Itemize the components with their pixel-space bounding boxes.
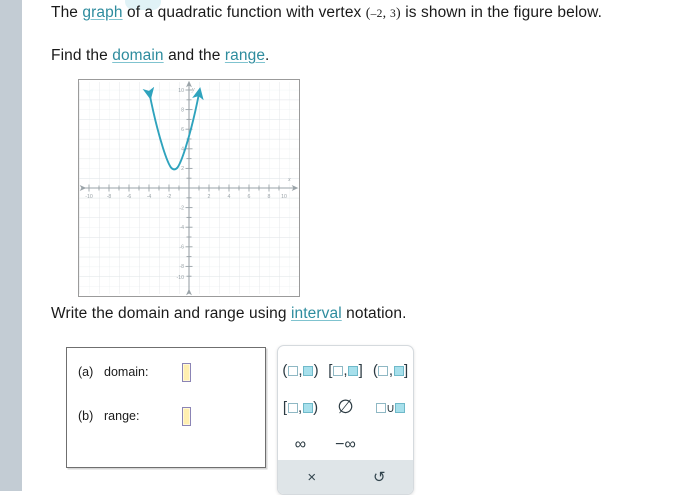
domain-input[interactable] (182, 363, 191, 382)
answer-label-domain: domain: (104, 365, 182, 379)
graph-figure: -10 -8 -6 -4 -2 2 4 6 8 10 10 8 6 4 2 -2… (78, 79, 300, 297)
palette-key-empty-set[interactable]: ∅ (323, 389, 368, 426)
y-axis-label: y (191, 87, 195, 93)
link-graph[interactable]: graph (82, 4, 122, 21)
palette-clear-button[interactable]: × (278, 460, 346, 494)
answer-label-range: range: (104, 409, 182, 423)
placeholder-box-icon (376, 403, 386, 413)
answer-row-domain: (a) domain: (78, 361, 258, 383)
answer-card: (a) domain: (b) range: (66, 347, 266, 468)
answer-tag-a: (a) (78, 365, 104, 379)
link-range[interactable]: range (225, 47, 265, 64)
svg-text:-8: -8 (107, 194, 112, 200)
placeholder-box-filled-icon (394, 366, 404, 376)
palette-key-spacer (368, 426, 413, 463)
placeholder-box-icon (378, 366, 388, 376)
problem-statement-line-3: Write the domain and range using interva… (51, 303, 696, 324)
svg-text:-6: -6 (127, 194, 132, 200)
svg-text:-10: -10 (85, 194, 93, 200)
svg-text:-10: -10 (177, 275, 185, 281)
write-text-pre: Write the domain and range using (51, 305, 291, 322)
page-content: The graph of a quadratic function with v… (22, 0, 700, 491)
svg-text:8: 8 (181, 107, 184, 113)
placeholder-box-icon (288, 403, 298, 413)
placeholder-box-filled-icon (395, 403, 405, 413)
range-input[interactable] (182, 407, 191, 426)
empty-set-icon: ∅ (337, 398, 354, 417)
svg-text:-8: -8 (179, 264, 184, 270)
x-axis-label: x (287, 177, 291, 183)
answer-tag-b: (b) (78, 409, 104, 423)
palette-key-negative-infinity[interactable]: −∞ (323, 426, 368, 463)
find-text-mid: and the (164, 47, 225, 64)
palette-key-interval-closed-closed[interactable]: [,] (323, 352, 368, 389)
svg-text:4: 4 (228, 194, 231, 200)
palette-undo-button[interactable]: ↺ (346, 460, 414, 494)
svg-text:10: 10 (281, 194, 287, 200)
svg-text:2: 2 (181, 166, 184, 172)
palette-key-interval-open-open[interactable]: (,) (278, 352, 323, 389)
find-text-pre: Find the (51, 47, 112, 64)
palette-key-infinity[interactable]: ∞ (278, 426, 323, 463)
coordinate-plane-svg: -10 -8 -6 -4 -2 2 4 6 8 10 10 8 6 4 2 -2… (79, 80, 299, 296)
left-sidebar-rail (0, 0, 22, 491)
problem-text-mid: of a quadratic function with vertex (123, 4, 366, 21)
placeholder-box-icon (333, 366, 343, 376)
svg-text:-4: -4 (179, 225, 184, 231)
problem-text-pre: The (51, 4, 82, 21)
palette-key-union[interactable]: ∪ (368, 389, 413, 426)
vertex-separator: , (383, 6, 390, 21)
link-interval[interactable]: interval (291, 305, 342, 322)
link-domain[interactable]: domain (112, 47, 163, 64)
vertex-coordinate: (–2, 3) (366, 6, 401, 21)
palette-key-interval-closed-open[interactable]: [,) (278, 389, 323, 426)
placeholder-box-filled-icon (303, 403, 313, 413)
math-symbol-palette: (,) [,] (,] [,) ∅ ∪ ∞ −∞ × ↺ (277, 345, 414, 495)
svg-text:6: 6 (248, 194, 251, 200)
placeholder-box-filled-icon (348, 366, 358, 376)
svg-text:-2: -2 (167, 194, 172, 200)
svg-text:-6: -6 (179, 245, 184, 251)
palette-key-interval-open-closed[interactable]: (,] (368, 352, 413, 389)
svg-text:6: 6 (181, 127, 184, 133)
vertex-x-value: –2 (371, 8, 383, 20)
placeholder-box-icon (288, 366, 298, 376)
problem-text-post: is shown in the figure below. (401, 4, 602, 21)
palette-key-grid: (,) [,] (,] [,) ∅ ∪ ∞ −∞ (278, 352, 413, 463)
svg-text:2: 2 (208, 194, 211, 200)
svg-text:10: 10 (178, 88, 184, 94)
find-text-post: . (265, 47, 269, 64)
problem-statement-line-2: Find the domain and the range. (51, 45, 696, 66)
answer-row-range: (b) range: (78, 405, 258, 427)
palette-footer: × ↺ (278, 460, 413, 494)
placeholder-box-filled-icon (303, 366, 313, 376)
problem-statement-line-1: The graph of a quadratic function with v… (51, 2, 696, 25)
write-text-post: notation. (342, 305, 407, 322)
svg-text:8: 8 (268, 194, 271, 200)
svg-text:-2: -2 (179, 205, 184, 211)
svg-text:-4: -4 (147, 194, 152, 200)
